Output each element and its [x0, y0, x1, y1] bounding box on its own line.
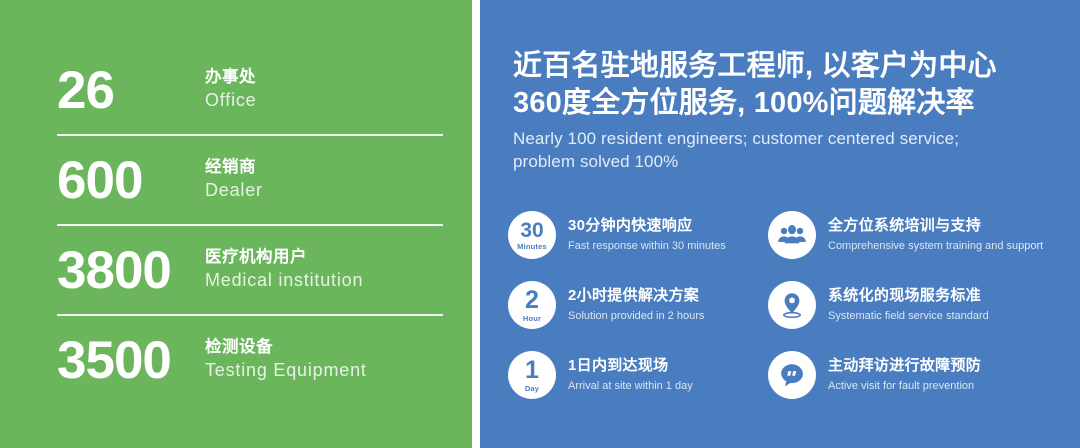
headline-cn-line1: 近百名驻地服务工程师, 以客户为中心 — [513, 48, 1058, 85]
feature-title-cn: 2小时提供解决方案 — [568, 286, 704, 306]
badge-number: 30 — [520, 220, 543, 241]
feature-item: 30 Minutes 30分钟内快速响应 Fast response withi… — [508, 200, 758, 270]
stat-row: 3500 检测设备 Testing Equipment — [57, 316, 443, 404]
stat-label-cn: 检测设备 — [205, 336, 367, 358]
stat-label-en: Dealer — [205, 178, 263, 202]
feature-item: 全方位系统培训与支持 Comprehensive system training… — [768, 200, 1018, 270]
feature-text: 主动拜访进行故障预防 Active visit for fault preven… — [828, 356, 981, 393]
stat-label-cn: 办事处 — [205, 66, 257, 88]
statistics-list: 26 办事处 Office 600 经销商 Dealer 3800 医疗机构用户… — [57, 46, 443, 404]
feature-text: 30分钟内快速响应 Fast response within 30 minute… — [568, 216, 726, 253]
speech-bubble-quote-icon — [768, 351, 816, 399]
feature-title-en: Active visit for fault prevention — [828, 379, 981, 394]
feature-title-en: Arrival at site within 1 day — [568, 379, 693, 394]
stat-labels: 办事处 Office — [205, 66, 257, 115]
badge-number: 1 — [525, 358, 539, 383]
feature-title-cn: 30分钟内快速响应 — [568, 216, 726, 236]
stat-number: 600 — [57, 154, 205, 207]
feature-title-en: Fast response within 30 minutes — [568, 239, 726, 254]
headline-cn-line2: 360度全方位服务, 100%问题解决率 — [513, 85, 1058, 122]
stat-label-cn: 经销商 — [205, 156, 263, 178]
badge-unit: Minutes — [517, 243, 547, 251]
headline-block: 近百名驻地服务工程师, 以客户为中心 360度全方位服务, 100%问题解决率 … — [513, 48, 1058, 174]
stat-labels: 经销商 Dealer — [205, 156, 263, 205]
feature-text: 系统化的现场服务标准 Systematic field service stan… — [828, 286, 989, 323]
feature-title-cn: 系统化的现场服务标准 — [828, 286, 989, 306]
badge-30-minutes-icon: 30 Minutes — [508, 211, 556, 259]
feature-title-en: Systematic field service standard — [828, 309, 989, 324]
feature-title-cn: 主动拜访进行故障预防 — [828, 356, 981, 376]
stat-number: 26 — [57, 64, 205, 117]
feature-item: 2 Hour 2小时提供解决方案 Solution provided in 2 … — [508, 270, 758, 340]
location-pin-icon — [768, 281, 816, 329]
stat-label-en: Testing Equipment — [205, 358, 367, 382]
stat-label-en: Office — [205, 88, 257, 112]
stat-row: 26 办事处 Office — [57, 46, 443, 134]
headline-en-line1: Nearly 100 resident engineers; customer … — [513, 128, 1058, 151]
badge-number: 2 — [525, 288, 539, 313]
statistics-panel: 26 办事处 Office 600 经销商 Dealer 3800 医疗机构用户… — [0, 0, 472, 448]
panel-divider-gap — [472, 0, 480, 448]
badge-unit: Day — [525, 385, 539, 393]
stat-labels: 检测设备 Testing Equipment — [205, 336, 367, 385]
badge-1-day-icon: 1 Day — [508, 351, 556, 399]
feature-title-cn: 全方位系统培训与支持 — [828, 216, 1043, 236]
stat-number: 3500 — [57, 334, 205, 387]
feature-text: 1日内到达现场 Arrival at site within 1 day — [568, 356, 693, 393]
stat-number: 3800 — [57, 244, 205, 297]
stat-row: 3800 医疗机构用户 Medical institution — [57, 226, 443, 314]
badge-unit: Hour — [523, 315, 541, 323]
stat-row: 600 经销商 Dealer — [57, 136, 443, 224]
feature-title-en: Comprehensive system training and suppor… — [828, 239, 1043, 254]
feature-text: 全方位系统培训与支持 Comprehensive system training… — [828, 216, 1043, 253]
feature-title-en: Solution provided in 2 hours — [568, 309, 704, 324]
feature-item: 主动拜访进行故障预防 Active visit for fault preven… — [768, 340, 1018, 410]
people-group-icon — [768, 211, 816, 259]
feature-text: 2小时提供解决方案 Solution provided in 2 hours — [568, 286, 704, 323]
headline-en-line2: problem solved 100% — [513, 151, 1058, 174]
stat-label-en: Medical institution — [205, 268, 363, 292]
feature-item: 系统化的现场服务标准 Systematic field service stan… — [768, 270, 1018, 340]
feature-grid: 30 Minutes 30分钟内快速响应 Fast response withi… — [508, 200, 1068, 410]
feature-title-cn: 1日内到达现场 — [568, 356, 693, 376]
feature-item: 1 Day 1日内到达现场 Arrival at site within 1 d… — [508, 340, 758, 410]
service-panel: 近百名驻地服务工程师, 以客户为中心 360度全方位服务, 100%问题解决率 … — [480, 0, 1080, 448]
badge-2-hour-icon: 2 Hour — [508, 281, 556, 329]
stat-label-cn: 医疗机构用户 — [205, 246, 363, 268]
stat-labels: 医疗机构用户 Medical institution — [205, 246, 363, 295]
